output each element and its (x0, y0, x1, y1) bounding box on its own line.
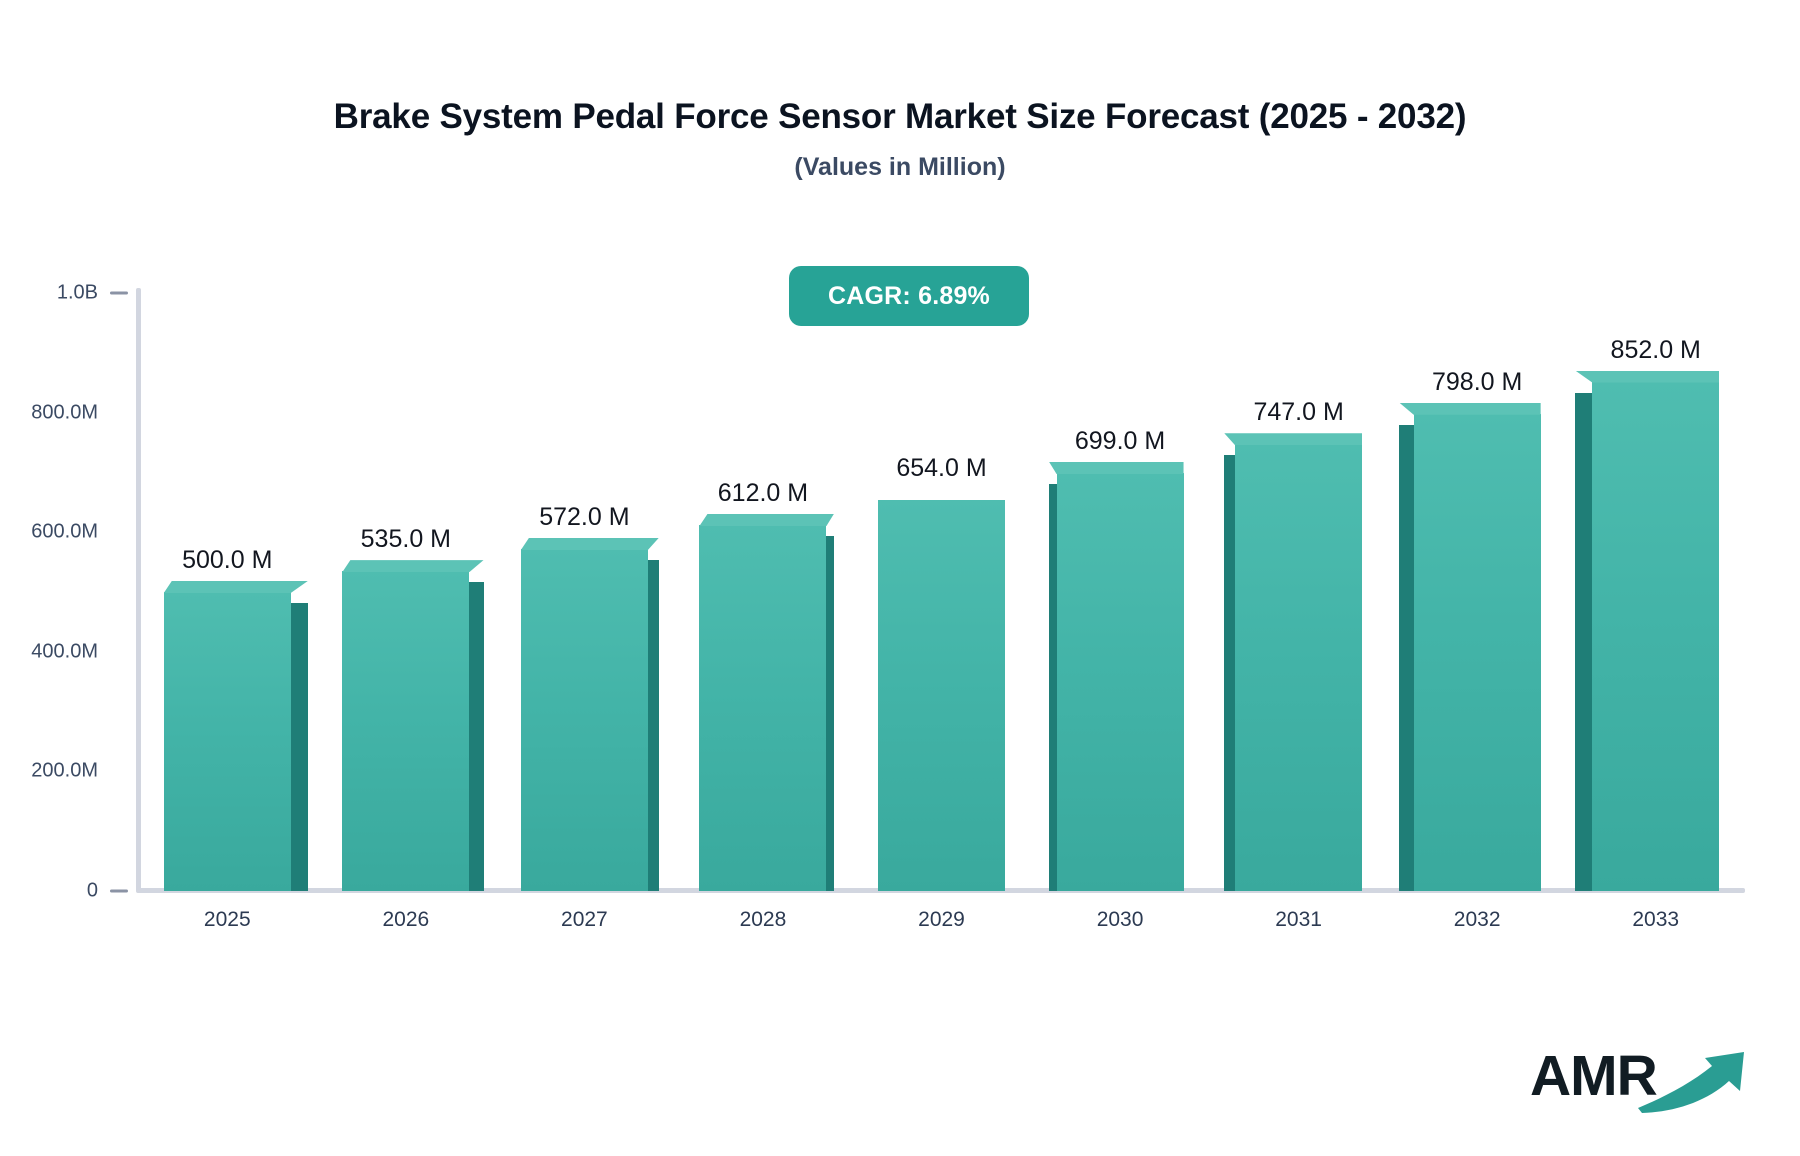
bar-value-label: 654.0 M (896, 454, 986, 483)
bar-front-face (521, 549, 648, 891)
y-axis-tick-label: 400.0M (31, 640, 98, 663)
bar-side-face (1049, 484, 1056, 891)
bar[interactable]: 535.0 M (342, 571, 469, 891)
bar-front-face (1057, 473, 1184, 891)
bar-top-face (342, 560, 483, 572)
x-axis-tick-label: 2029 (918, 908, 965, 932)
y-axis-tick-mark (110, 890, 128, 893)
bar-front-face (699, 525, 826, 891)
bar-side-face (1224, 455, 1235, 891)
bar-top-face (164, 581, 308, 593)
bar[interactable]: 852.0 M (1592, 382, 1719, 891)
bar-top-face (699, 514, 833, 526)
bar-value-label: 747.0 M (1253, 398, 1343, 427)
y-axis-tick-label: 600.0M (31, 521, 98, 544)
bar-top-face (1224, 433, 1362, 445)
bar-top-face (1049, 462, 1183, 474)
y-axis-tick-label: 0 (87, 880, 98, 903)
bar[interactable]: 612.0 M (699, 525, 826, 891)
bar-value-label: 798.0 M (1432, 368, 1522, 397)
y-axis-tick-label: 800.0M (31, 401, 98, 424)
y-axis-line (136, 288, 141, 892)
bar-value-label: 612.0 M (718, 479, 808, 508)
bar[interactable]: 798.0 M (1414, 414, 1541, 891)
x-axis-tick-label: 2026 (382, 908, 429, 932)
x-axis-tick-label: 2027 (561, 908, 608, 932)
bar-top-face (521, 538, 659, 550)
y-axis-tick-label: 1.0B (57, 282, 98, 305)
bar-value-label: 535.0 M (361, 525, 451, 554)
x-axis-tick-label: 2033 (1632, 908, 1679, 932)
bar-front-face (1414, 414, 1541, 891)
bar-front-face (1235, 444, 1362, 891)
x-axis-tick-label: 2032 (1454, 908, 1501, 932)
bar-side-face (1399, 425, 1413, 891)
bar-side-face (648, 560, 659, 891)
y-axis-tick-label: 200.0M (31, 760, 98, 783)
bar-side-face (826, 536, 833, 891)
bar-front-face (342, 571, 469, 891)
bar-front-face (164, 592, 291, 891)
x-axis-tick-label: 2028 (740, 908, 787, 932)
bar[interactable]: 747.0 M (1235, 444, 1362, 891)
bar[interactable]: 572.0 M (521, 549, 648, 891)
bar-top-face (1399, 403, 1540, 415)
growth-arrow-icon (1636, 1050, 1760, 1114)
bar-top-face (1575, 371, 1719, 383)
bar-value-label: 572.0 M (539, 503, 629, 532)
bar-side-face (1575, 393, 1592, 891)
y-axis-tick-mark (110, 292, 128, 295)
bar-side-face (469, 582, 483, 891)
bar[interactable]: 699.0 M (1057, 473, 1184, 891)
bar-side-face (291, 603, 308, 891)
bar-value-label: 699.0 M (1075, 427, 1165, 456)
bar-front-face (1592, 382, 1719, 891)
plot-area: 0200.0M400.0M600.0M800.0M1.0B 2025202620… (0, 0, 1800, 1156)
bar-value-label: 500.0 M (182, 546, 272, 575)
x-axis-tick-label: 2025 (204, 908, 251, 932)
bar[interactable]: 500.0 M (164, 592, 291, 891)
amr-logo: AMR (1530, 1048, 1760, 1122)
x-axis-tick-label: 2030 (1097, 908, 1144, 932)
chart-canvas: Brake System Pedal Force Sensor Market S… (0, 0, 1800, 1156)
bar-front-face (878, 500, 1005, 891)
x-axis-tick-label: 2031 (1275, 908, 1322, 932)
bar[interactable]: 654.0 M (878, 500, 1005, 891)
bar-value-label: 852.0 M (1611, 336, 1701, 365)
